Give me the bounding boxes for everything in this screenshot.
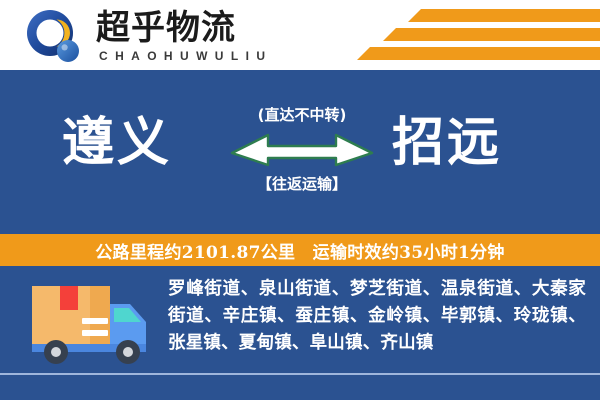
stripe-3 [357, 47, 600, 60]
header-bar: 超乎物流 CHAOHUWULIU [0, 0, 600, 70]
distance-duration-text: 公路里程约2101.87公里 运输时效约35小时1分钟 [95, 238, 504, 263]
origin-city: 遵义 [62, 112, 172, 174]
circle-crescent-logo-icon [26, 9, 80, 63]
stripe-2 [383, 28, 600, 41]
brand-name-cn: 超乎物流 [96, 8, 236, 48]
bidirectional-arrow-icon [228, 129, 376, 169]
roundtrip-note: 【往返运输】 [228, 173, 376, 195]
bottom-divider [0, 373, 600, 375]
delivery-truck-icon [30, 282, 158, 368]
brand-name-en: CHAOHUWULIU [99, 49, 272, 63]
coverage-section: 罗峰街道、泉山街道、梦芝街道、温泉街道、大秦家街道、辛庄镇、蚕庄镇、金岭镇、毕郭… [0, 266, 600, 400]
stripe-1 [408, 9, 600, 22]
destination-city: 招远 [392, 112, 502, 174]
logistics-route-banner: 超乎物流 CHAOHUWULIU 遵义 (直达不中转) 【往返运输】 招远 公路… [0, 0, 600, 400]
route-section: 遵义 (直达不中转) 【往返运输】 招远 [0, 70, 600, 232]
route-arrow-block: (直达不中转) 【往返运输】 [228, 104, 376, 200]
distance-duration-bar: 公路里程约2101.87公里 运输时效约35小时1分钟 [0, 234, 600, 266]
coverage-areas-text: 罗峰街道、泉山街道、梦芝街道、温泉街道、大秦家街道、辛庄镇、蚕庄镇、金岭镇、毕郭… [168, 276, 586, 357]
direct-service-note: (直达不中转) [228, 104, 376, 126]
header-stripes-decoration [345, 9, 600, 63]
